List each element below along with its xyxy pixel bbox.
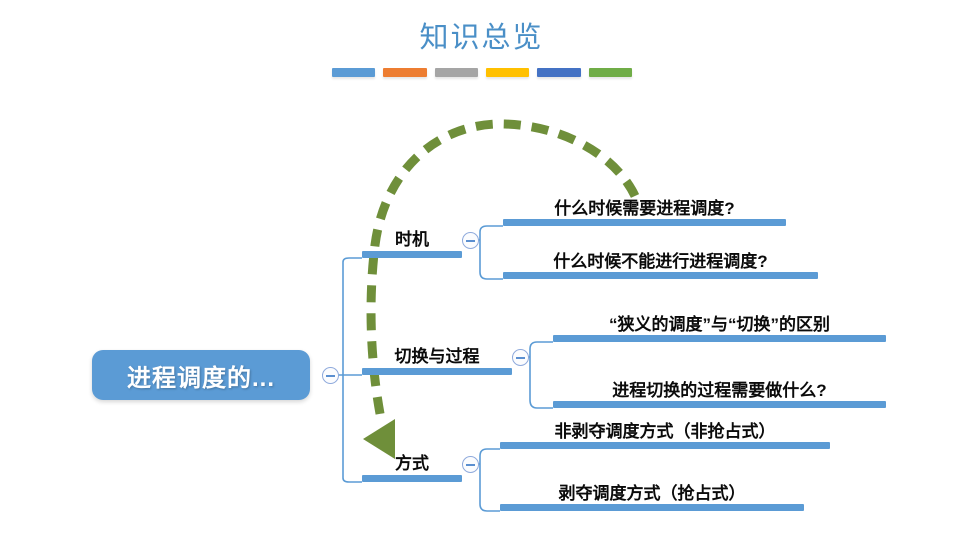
link-branch3-to-leaf2	[480, 464, 500, 511]
branch-node-fangshi-label: 方式	[362, 449, 462, 474]
link-branch2-to-leaf2	[530, 357, 553, 408]
slide-canvas: 知识总览	[0, 0, 963, 546]
leaf-node-fangshi-1-underline	[500, 442, 830, 449]
leaf-node-fangshi-2-label: 剥夺调度方式（抢占式）	[500, 479, 804, 504]
leaf-node-qiehuan-1-label: “狭义的调度”与“切换”的区别	[553, 310, 886, 335]
branch-node-qiehuan-underline	[362, 368, 512, 375]
leaf-node-fangshi-1[interactable]: 非剥夺调度方式（非抢占式）	[500, 421, 830, 449]
link-branch1-to-leaf2	[480, 240, 503, 279]
decorative-bar-green	[589, 68, 632, 77]
leaf-node-qiehuan-2-label: 进程切换的过程需要做什么?	[553, 376, 886, 401]
decorative-bar-row	[332, 68, 632, 80]
decorative-bar-gray	[435, 68, 478, 77]
leaf-node-qiehuan-1-underline	[553, 335, 886, 342]
leaf-node-shiji-1-label: 什么时候需要进程调度?	[503, 194, 786, 219]
leaf-node-shiji-2-label: 什么时候不能进行进程调度?	[503, 247, 818, 272]
leaf-node-shiji-1-underline	[503, 219, 786, 226]
leaf-node-fangshi-2-underline	[500, 504, 804, 511]
page-title: 知识总览	[0, 14, 963, 56]
leaf-node-qiehuan-1[interactable]: “狭义的调度”与“切换”的区别	[553, 314, 886, 342]
decorative-bar-yellow	[486, 68, 529, 77]
link-branch1-to-leaf1	[480, 226, 503, 240]
root-collapse-toggle-icon[interactable]	[322, 367, 339, 384]
leaf-node-qiehuan-2[interactable]: 进程切换的过程需要做什么?	[553, 380, 886, 408]
leaf-node-shiji-1[interactable]: 什么时候需要进程调度?	[503, 198, 786, 226]
branch-node-qiehuan-label: 切换与过程	[362, 342, 512, 367]
leaf-node-shiji-2[interactable]: 什么时候不能进行进程调度?	[503, 251, 818, 279]
decorative-bar-dark-blue	[537, 68, 580, 77]
leaf-node-shiji-2-underline	[503, 272, 818, 279]
leaf-node-fangshi-1-label: 非剥夺调度方式（非抢占式）	[500, 417, 830, 442]
branch-node-shiji-label: 时机	[362, 225, 462, 250]
branch-node-fangshi-underline	[362, 475, 462, 482]
decorative-bar-orange	[383, 68, 426, 77]
decorative-bar-light-blue	[332, 68, 375, 77]
branch-fangshi-collapse-toggle-icon[interactable]	[462, 456, 479, 473]
root-node-label: 进程调度的...	[127, 358, 275, 393]
branch-node-shiji[interactable]: 时机	[362, 218, 462, 258]
link-branch2-to-leaf1	[530, 342, 553, 357]
link-trunk-to-branch-1	[343, 258, 362, 262]
link-trunk-to-branch-3	[343, 478, 362, 482]
leaf-node-fangshi-2[interactable]: 剥夺调度方式（抢占式）	[500, 483, 804, 511]
connector-layer	[0, 0, 963, 546]
root-node[interactable]: 进程调度的...	[92, 350, 310, 400]
leaf-node-qiehuan-2-underline	[553, 401, 886, 408]
branch-node-qiehuan[interactable]: 切换与过程	[362, 335, 512, 375]
green-dashed-arrow	[363, 124, 635, 459]
branch-node-fangshi[interactable]: 方式	[362, 442, 462, 482]
branch-qiehuan-collapse-toggle-icon[interactable]	[512, 349, 529, 366]
branch-shiji-collapse-toggle-icon[interactable]	[462, 232, 479, 249]
branch-node-shiji-underline	[362, 251, 462, 258]
link-branch3-to-leaf1	[480, 449, 500, 464]
